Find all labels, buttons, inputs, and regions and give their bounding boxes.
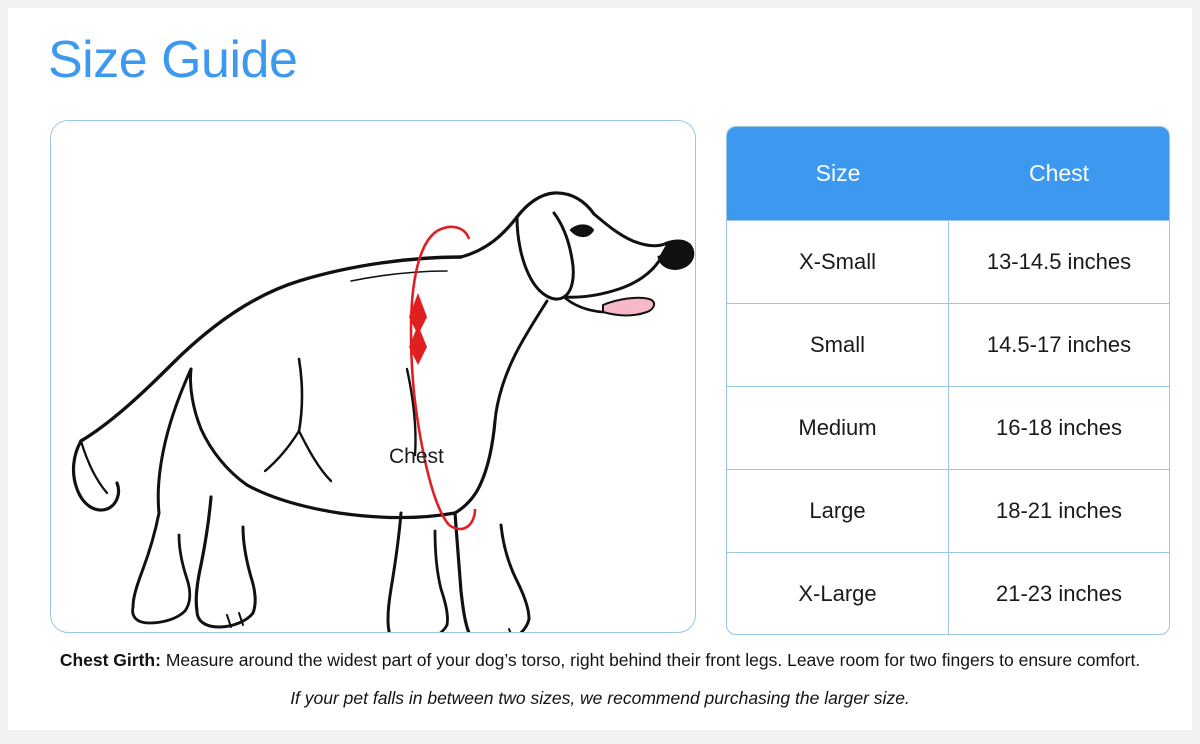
cell-size: Large [727, 470, 949, 552]
column-header-size: Size [727, 127, 949, 220]
cell-chest: 21-23 inches [949, 553, 1169, 635]
size-chart-table: Size Chest X-Small 13-14.5 inches Small … [726, 126, 1170, 635]
table-row: X-Large 21-23 inches [727, 552, 1169, 635]
between-sizes-note: If your pet falls in between two sizes, … [8, 686, 1192, 711]
size-guide-card: Size Guide [8, 8, 1192, 730]
cell-chest: 18-21 inches [949, 470, 1169, 552]
cell-chest: 16-18 inches [949, 387, 1169, 469]
cell-chest: 14.5-17 inches [949, 304, 1169, 386]
dog-illustration-panel: Chest [50, 120, 696, 633]
chest-girth-note-text: Measure around the widest part of your d… [161, 650, 1140, 670]
dog-side-profile-line-drawing [51, 121, 696, 633]
chest-girth-note: Chest Girth: Measure around the widest p… [8, 648, 1192, 673]
table-row: Large 18-21 inches [727, 469, 1169, 552]
cell-size: X-Small [727, 221, 949, 303]
cell-chest: 13-14.5 inches [949, 221, 1169, 303]
chest-girth-note-label: Chest Girth: [60, 650, 161, 670]
table-header-row: Size Chest [727, 127, 1169, 220]
page-title: Size Guide [48, 32, 297, 89]
cell-size: X-Large [727, 553, 949, 635]
cell-size: Medium [727, 387, 949, 469]
chest-measurement-label: Chest [389, 445, 444, 469]
table-row: X-Small 13-14.5 inches [727, 220, 1169, 303]
cell-size: Small [727, 304, 949, 386]
table-row: Medium 16-18 inches [727, 386, 1169, 469]
column-header-chest: Chest [949, 127, 1169, 220]
table-row: Small 14.5-17 inches [727, 303, 1169, 386]
